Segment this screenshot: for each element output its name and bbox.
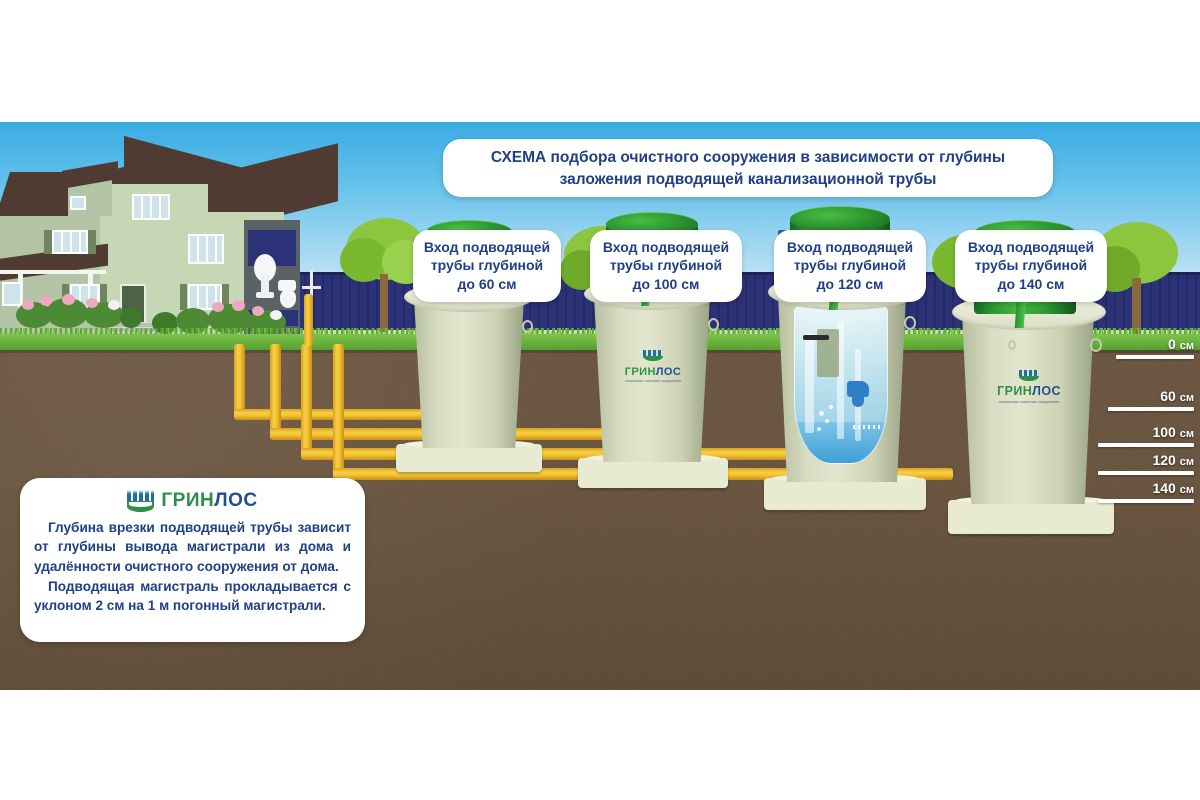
tank-logo-tagline: локальные очистные сооружения: [620, 380, 686, 384]
tank-logo-green: ГРИН: [997, 384, 1032, 398]
depth-label-100: 100 см: [1152, 424, 1194, 440]
flower-bed-left: [16, 290, 156, 332]
callout-60-line-1: Вход подводящей: [419, 238, 555, 256]
callout-depth-100: Вход подводящей трубы глубиной до 100 см: [590, 230, 742, 302]
callout-100-line-1: Вход подводящей: [596, 238, 736, 256]
depth-label-120: 120 см: [1152, 452, 1194, 468]
tank-lid: [790, 206, 890, 232]
supply-pipe-drop-3: [301, 344, 312, 456]
depth-line-120: [1098, 471, 1194, 475]
depth-line-140: [1098, 499, 1194, 503]
depth-marker-140: 140 см: [1098, 480, 1194, 503]
callout-depth-60: Вход подводящей трубы глубиной до 60 см: [413, 230, 561, 302]
info-paragraph-1: Глубина врезки подводящей трубы зависит …: [34, 518, 351, 576]
depth-marker-120: 120 см: [1098, 452, 1194, 475]
tank-logo-green: ГРИН: [625, 366, 656, 378]
callout-depth-120: Вход подводящей трубы глубиной до 120 см: [774, 230, 926, 302]
depth-marker-100: 100 см: [1098, 424, 1194, 447]
callout-120-line-3: до 120 см: [780, 275, 920, 293]
tank-brand-logo: ГРИНЛОС локальные очистные сооружения: [620, 350, 686, 384]
tank-logo-tagline: локальные очистные сооружения: [992, 400, 1066, 404]
tank-interior-cutaway: [794, 306, 888, 464]
title-line-2: заложения подводящей канализационной тру…: [459, 169, 1037, 191]
supply-pipe-drop-2: [270, 344, 281, 436]
depth-marker-60: 60 см: [1108, 388, 1194, 411]
brand-mark-icon: [1019, 370, 1039, 381]
callout-140-line-3: до 140 см: [961, 275, 1101, 293]
callout-60-line-3: до 60 см: [419, 275, 555, 293]
tank-logo-blue: ЛОС: [656, 366, 681, 378]
tank-brand-logo: ГРИНЛОС локальные очистные сооружения: [992, 370, 1066, 404]
house-window: [52, 230, 88, 254]
brand-mark-icon: [127, 490, 154, 512]
callout-140-line-1: Вход подводящей: [961, 238, 1101, 256]
callout-100-line-3: до 100 см: [596, 275, 736, 293]
brand-word-green: ГРИН: [161, 490, 214, 511]
depth-line-100: [1098, 443, 1194, 447]
brand-logo: ГРИНЛОС: [34, 488, 351, 514]
brand-wordmark: ГРИНЛОС: [161, 490, 257, 512]
depth-label-60: 60 см: [1160, 388, 1194, 404]
info-paragraph-2: Подводящая магистраль прокладывается с у…: [34, 577, 351, 616]
callout-120-line-1: Вход подводящей: [780, 238, 920, 256]
info-note-text: Глубина врезки подводящей трубы зависит …: [34, 518, 351, 615]
depth-line-60: [1108, 407, 1194, 411]
brand-mark-icon: [643, 350, 663, 361]
depth-label-0: 0 см: [1168, 336, 1194, 352]
depth-marker-0: 0 см: [1116, 336, 1194, 359]
house-window: [132, 194, 170, 220]
callout-100-line-2: трубы глубиной: [596, 256, 736, 274]
diagram-title: СХЕМА подбора очистного сооружения в зав…: [443, 139, 1053, 197]
callout-140-line-2: трубы глубиной: [961, 256, 1101, 274]
supply-pipe-drop-4: [333, 344, 344, 476]
title-line-1: СХЕМА подбора очистного сооружения в зав…: [459, 147, 1037, 169]
depth-line-0: [1116, 355, 1194, 359]
supply-pipe-drop-1: [234, 344, 245, 416]
brand-word-blue: ЛОС: [214, 490, 257, 511]
infographic-root: ГРИНЛОС локальные очистные сооружения: [0, 0, 1200, 800]
callout-60-line-2: трубы глубиной: [419, 256, 555, 274]
tank-logo-blue: ЛОС: [1032, 384, 1061, 398]
callout-120-line-2: трубы глубиной: [780, 256, 920, 274]
callout-depth-140: Вход подводящей трубы глубиной до 140 см: [955, 230, 1107, 302]
depth-label-140: 140 см: [1152, 480, 1194, 496]
house-outlet-pipe: [304, 294, 313, 346]
info-note-box: ГРИНЛОС Глубина врезки подводящей трубы …: [20, 478, 365, 642]
house-window: [188, 234, 224, 264]
